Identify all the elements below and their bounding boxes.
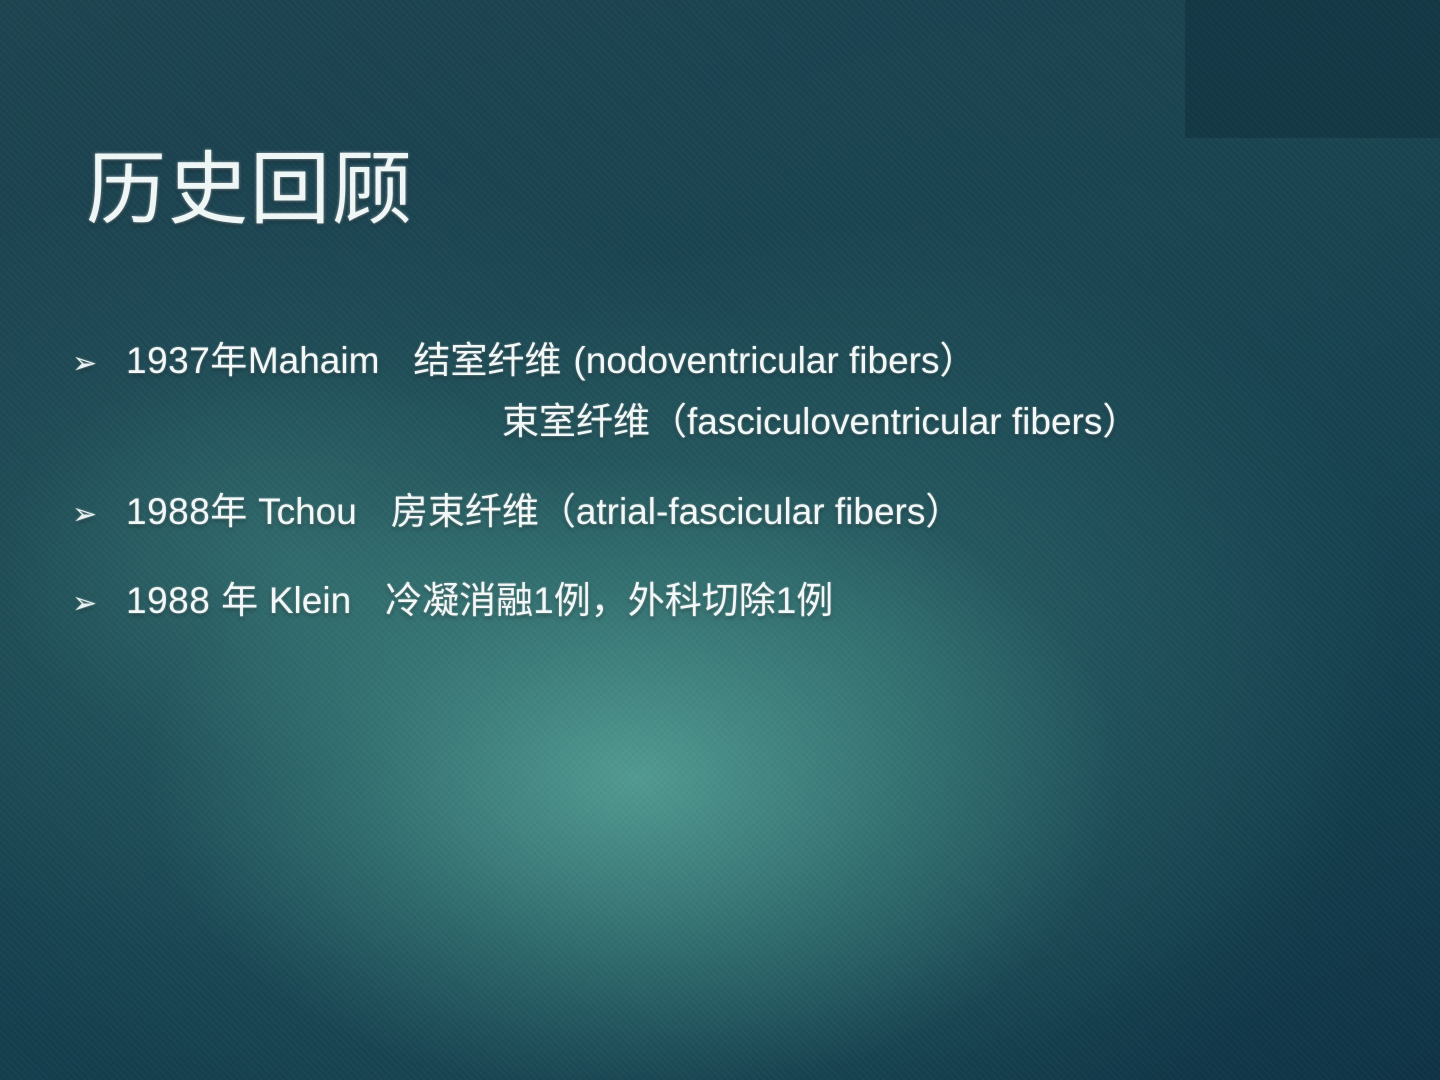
bullet-term-en: （atrial-fascicular fibers） bbox=[539, 491, 963, 532]
bullet-year: 1937年 bbox=[126, 340, 248, 381]
list-item: ➢ 1988年 Tchou房束纤维（atrial-fascicular fibe… bbox=[72, 491, 1392, 532]
bullet-text: 1988年 Tchou房束纤维（atrial-fascicular fibers… bbox=[126, 491, 962, 532]
bullet-term-cn: 冷凝消融1例，外科切除1例 bbox=[385, 580, 833, 621]
bullet-text-continuation: 束室纤维（fasciculoventricular fibers） bbox=[502, 401, 1139, 442]
slide-canvas: 历史回顾 ➢ 1937年Mahaim结室纤维(nodoventricular f… bbox=[0, 0, 1440, 1080]
bullet-year: 1988 年 bbox=[126, 580, 259, 621]
bullet-author: Klein bbox=[259, 580, 352, 621]
corner-accent-panel bbox=[1185, 0, 1440, 138]
bullet-cont-term-cn: 束室纤维 bbox=[502, 401, 650, 442]
bullet-line-primary: ➢ 1988年 Tchou房束纤维（atrial-fascicular fibe… bbox=[72, 491, 1392, 532]
bullet-text: 1988 年 Klein冷凝消融1例，外科切除1例 bbox=[126, 580, 833, 621]
list-item: ➢ 1988 年 Klein冷凝消融1例，外科切除1例 bbox=[72, 580, 1392, 621]
bullet-text: 1937年Mahaim结室纤维(nodoventricular fibers） bbox=[126, 340, 976, 381]
bullet-term-en: (nodoventricular fibers） bbox=[573, 340, 976, 381]
bullet-author: Tchou bbox=[248, 491, 357, 532]
list-item: ➢ 1937年Mahaim结室纤维(nodoventricular fibers… bbox=[72, 340, 1392, 443]
arrow-bullet-icon: ➢ bbox=[72, 589, 126, 619]
bullet-year: 1988年 bbox=[126, 491, 248, 532]
bullet-author: Mahaim bbox=[248, 340, 380, 381]
bullet-line-secondary: 束室纤维（fasciculoventricular fibers） bbox=[72, 401, 1392, 442]
bullet-term-cn: 结室纤维 bbox=[413, 340, 561, 381]
page-title: 历史回顾 bbox=[86, 146, 414, 234]
bullet-cont-term-en: （fasciculoventricular fibers） bbox=[650, 401, 1139, 442]
bullet-line-primary: ➢ 1937年Mahaim结室纤维(nodoventricular fibers… bbox=[72, 340, 1392, 381]
bullet-list: ➢ 1937年Mahaim结室纤维(nodoventricular fibers… bbox=[72, 340, 1392, 670]
bullet-term-cn: 房束纤维 bbox=[391, 491, 539, 532]
continuation-indent bbox=[72, 401, 502, 442]
bullet-line-primary: ➢ 1988 年 Klein冷凝消融1例，外科切除1例 bbox=[72, 580, 1392, 621]
arrow-bullet-icon: ➢ bbox=[72, 349, 126, 379]
arrow-bullet-icon: ➢ bbox=[72, 500, 126, 530]
